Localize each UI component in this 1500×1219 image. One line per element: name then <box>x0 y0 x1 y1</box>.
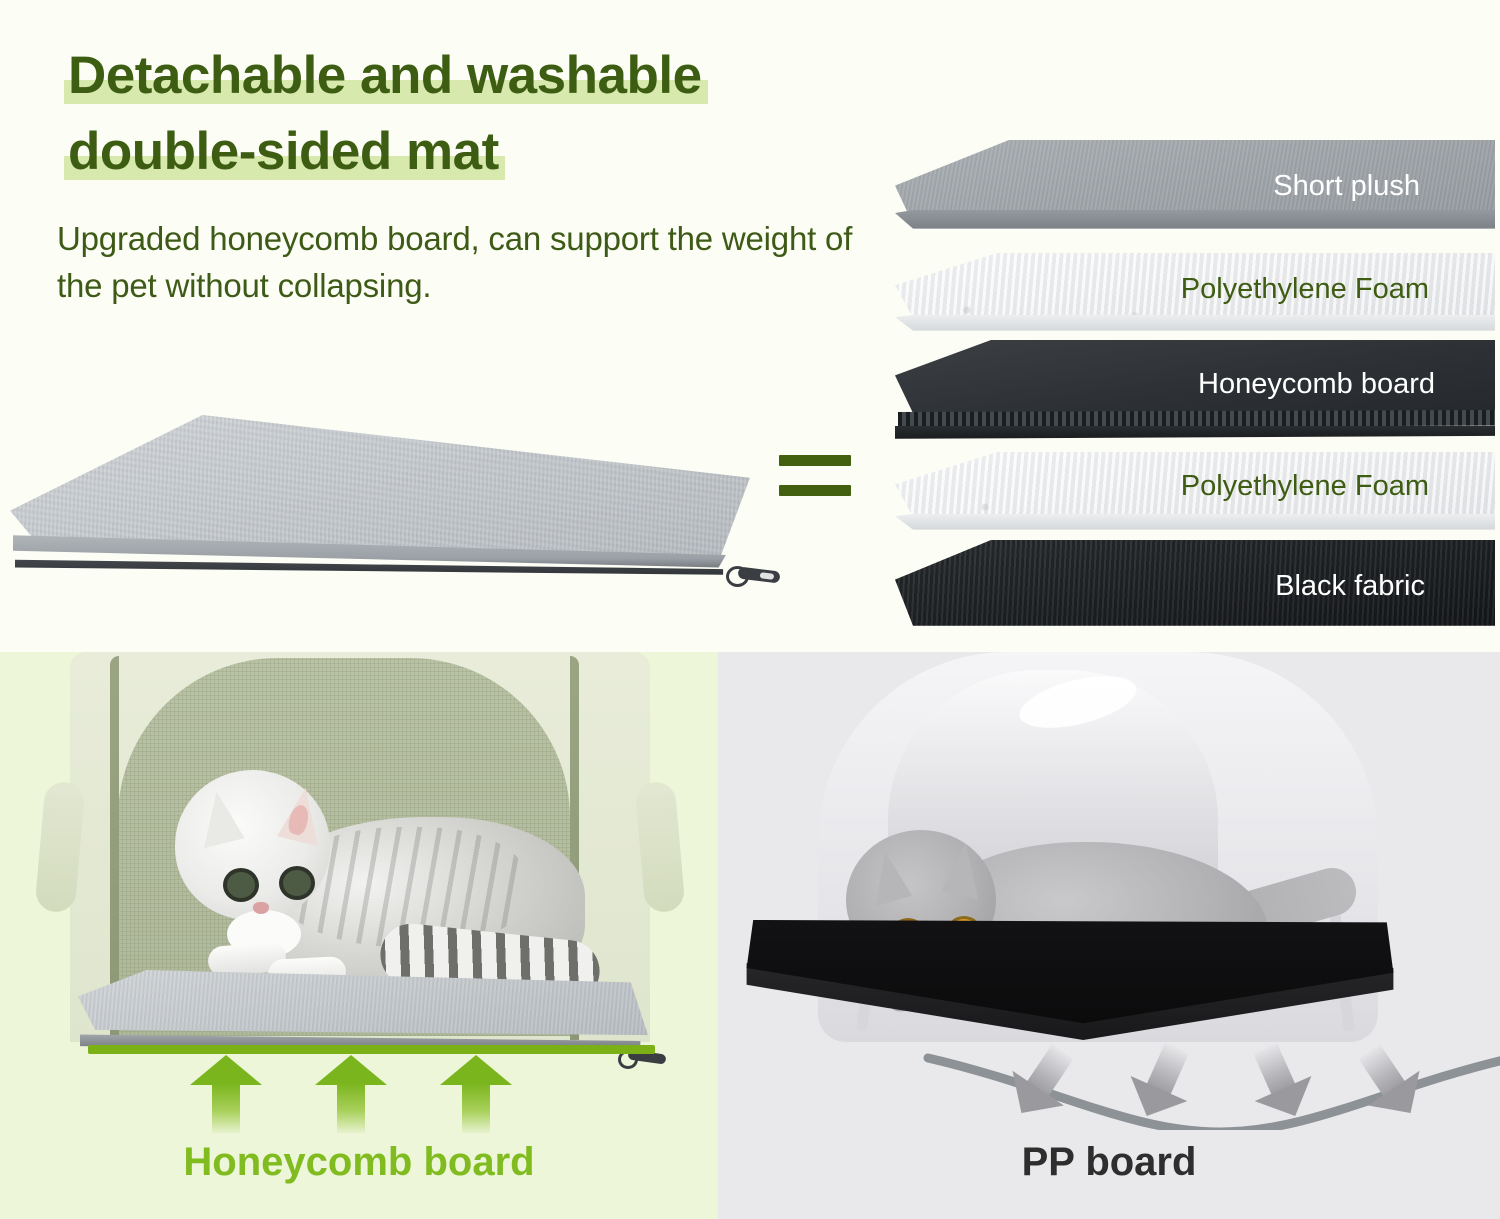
cat-ear-right <box>941 841 989 900</box>
up-arrow-icon <box>190 1055 262 1133</box>
equals-sign-icon <box>779 455 851 507</box>
arrow-head <box>440 1055 512 1085</box>
arrow-head <box>315 1055 387 1085</box>
equals-bar-bottom <box>779 485 851 496</box>
arrow-head <box>190 1055 262 1085</box>
down-arrow-icon <box>1343 1034 1438 1133</box>
subheadline: Upgraded honeycomb board, can support th… <box>57 215 857 309</box>
down-arrow-icon <box>1237 1036 1325 1132</box>
layer-label-4: Black fabric <box>1275 570 1425 603</box>
top-section: Detachable and washable double-sided mat… <box>0 0 1500 652</box>
cat-ear-left <box>191 788 244 849</box>
layer-black-fabric: Black fabric <box>895 540 1495 650</box>
cat-head <box>175 770 330 920</box>
up-arrow-icon <box>315 1055 387 1133</box>
up-arrow-icon <box>440 1055 512 1133</box>
honeycomb-support-line <box>88 1045 655 1054</box>
layer-edge <box>895 315 1495 341</box>
page-title: Detachable and washable double-sided mat <box>68 38 898 190</box>
headline-line-1-text: Detachable and washable <box>68 46 702 105</box>
cat-eye-left <box>223 868 259 902</box>
headline-line-2-text: double-sided mat <box>68 122 499 181</box>
pp-board-sagging <box>740 920 1400 1060</box>
layer-short-plush: Short plush <box>895 140 1495 260</box>
cat-ear-left <box>862 848 912 907</box>
arrow-shaft <box>337 1083 365 1133</box>
mat-product-photo <box>10 415 780 615</box>
caption-honeycomb-board: Honeycomb board <box>0 1140 718 1185</box>
caption-pp-board: PP board <box>718 1140 1500 1185</box>
layer-label-2: Honeycomb board <box>1198 368 1435 401</box>
layer-edge <box>895 514 1495 540</box>
cat-ear-right <box>277 784 331 847</box>
arrow-shaft <box>212 1083 240 1133</box>
layer-honeycomb-board: Honeycomb board <box>895 340 1495 458</box>
honeycomb-up-arrows <box>190 1055 550 1135</box>
layer-label-0: Short plush <box>1273 170 1420 203</box>
cat-nose <box>253 902 269 914</box>
layer-polyethylene-foam-top: Polyethylene Foam <box>895 253 1495 348</box>
layer-stack-diagram: Short plush Polyethylene Foam Honeycomb … <box>895 140 1495 590</box>
zipper-pull-icon <box>726 563 780 589</box>
headline-line-2: double-sided mat <box>68 114 499 190</box>
equals-bar-top <box>779 455 851 466</box>
headline-line-1: Detachable and washable <box>68 38 702 114</box>
pp-down-arrows <box>1010 1045 1430 1135</box>
down-arrow-icon <box>1117 1036 1205 1132</box>
layer-edge <box>895 210 1495 240</box>
cat-eye-right <box>279 866 315 900</box>
infographic-page: Detachable and washable double-sided mat… <box>0 0 1500 1219</box>
layer-polyethylene-foam-bottom: Polyethylene Foam <box>895 452 1495 547</box>
arrow-shaft <box>462 1083 490 1133</box>
layer-edge <box>895 426 1495 442</box>
layer-label-1: Polyethylene Foam <box>1181 273 1429 306</box>
layer-label-3: Polyethylene Foam <box>1181 470 1429 503</box>
